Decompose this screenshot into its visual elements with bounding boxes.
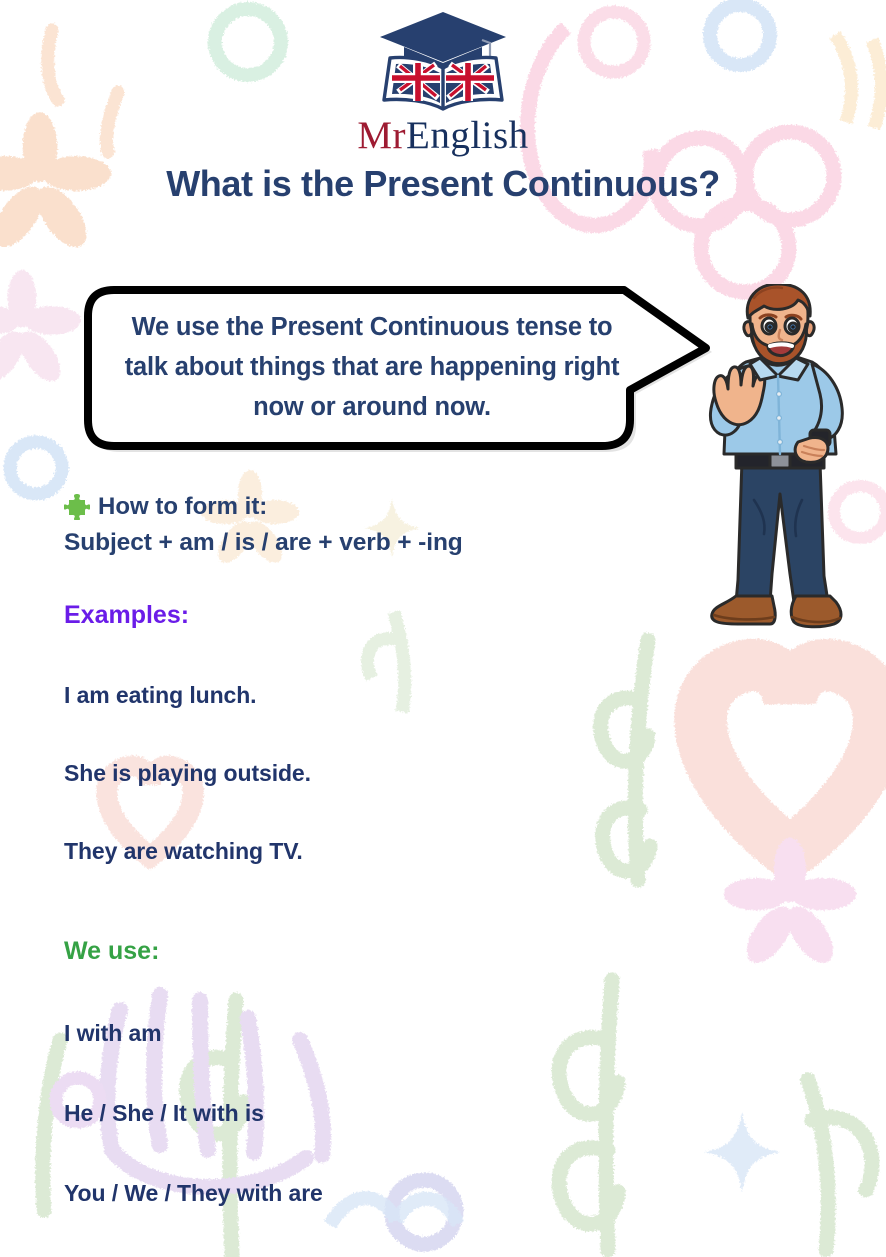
- infographic-page: MrEnglish What is the Present Continuous…: [0, 0, 886, 1257]
- example-sentence: She is playing outside.: [64, 760, 684, 787]
- usage-rule: You / We / They with are: [64, 1180, 684, 1207]
- brand-name-first: Mr: [357, 114, 406, 157]
- speech-bubble-text: We use the Present Continuous tense to t…: [112, 308, 632, 427]
- usage-rule: He / She / It with is: [64, 1100, 684, 1127]
- how-to-form-heading: How to form it:: [64, 490, 684, 524]
- example-sentence: They are watching TV.: [64, 838, 684, 865]
- examples-list: I am eating lunch. She is playing outsid…: [64, 682, 684, 865]
- examples-heading: Examples:: [64, 601, 684, 630]
- example-sentence: I am eating lunch.: [64, 682, 684, 709]
- speech-bubble: We use the Present Continuous tense to t…: [84, 286, 724, 461]
- lesson-content: How to form it: Subject + am / is / are …: [64, 490, 684, 1207]
- brand-logo: MrEnglish: [0, 6, 886, 155]
- brand-wordmark: MrEnglish: [0, 116, 886, 155]
- usage-list: I with am He / She / It with is You / We…: [64, 1020, 684, 1207]
- graduation-cap-book-icon: [374, 6, 512, 114]
- puzzle-piece-icon: [64, 494, 90, 520]
- how-to-form-label: How to form it:: [98, 493, 267, 521]
- usage-heading: We use:: [64, 937, 684, 966]
- usage-rule: I with am: [64, 1020, 684, 1047]
- page-title: What is the Present Continuous?: [0, 163, 886, 205]
- brand-name-second: English: [406, 114, 529, 157]
- formula-text: Subject + am / is / are + verb + -ing: [64, 529, 684, 557]
